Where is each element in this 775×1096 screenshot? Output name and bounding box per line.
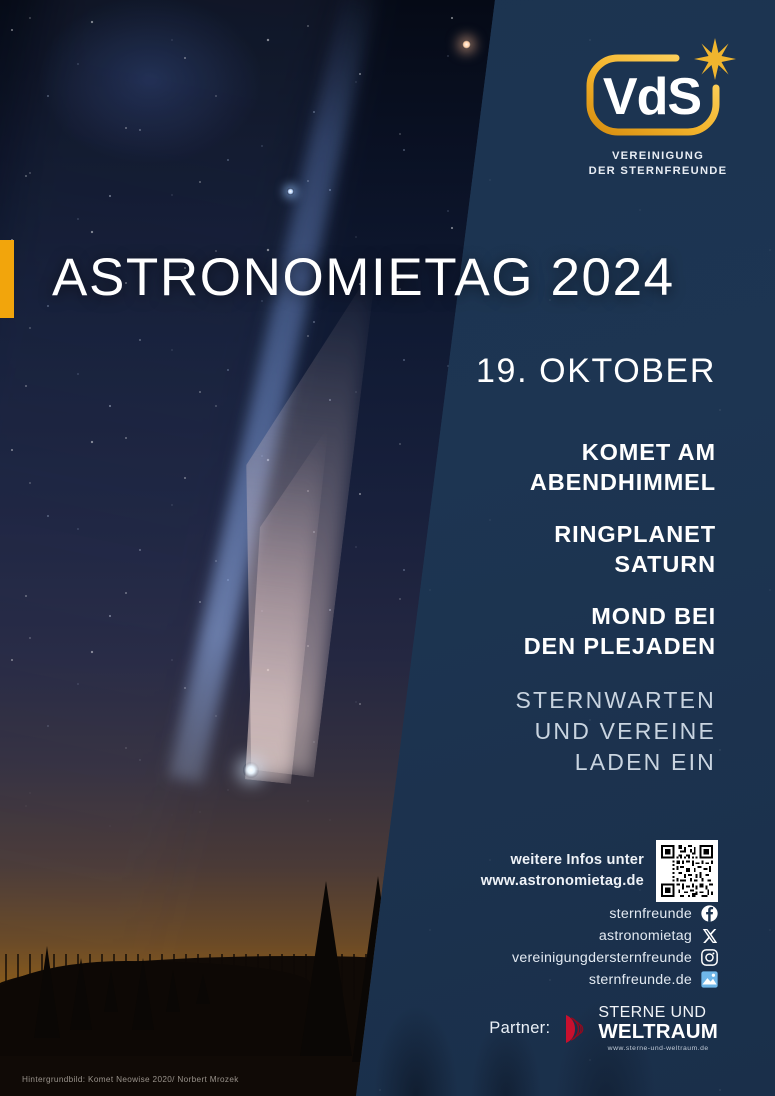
more-info-line1: weitere Infos unter [481,850,644,871]
vds-subtitle-line2: DER STERNFREUNDE [578,164,738,179]
highlight-item-saturn: RINGPLANET SATURN [386,519,716,579]
social-row-instagram[interactable]: vereinigungdersternfreunde [388,947,718,968]
event-date: 19. OKTOBER [476,352,716,391]
suw-name-line2: WELTRAUM [598,1022,718,1043]
vds-logo: VdS VEREINIGUNG DER STERNFREUNDE [578,52,738,179]
highlight-item-invitation: STERNWARTEN UND VEREINE LADEN EIN [386,685,716,778]
suw-radio-waves-icon [562,1011,592,1047]
comet-nucleus [243,762,259,778]
eight-point-star-icon [694,38,736,80]
conifer-tree [132,958,154,1030]
accent-bar [0,240,14,318]
highlight-list: KOMET AM ABENDHIMMEL RINGPLANET SATURN M… [386,437,716,778]
conifer-tree [166,970,180,1012]
conifer-tree [34,946,60,1038]
x-twitter-icon[interactable] [701,927,718,944]
sterne-und-weltraum-logo[interactable]: STERNE UND WELTRAUM www.sterne-und-weltr… [562,1005,718,1052]
social-handle: astronomietag [599,928,692,944]
facebook-icon[interactable] [701,905,718,922]
qr-code-icon[interactable] [656,840,718,902]
vds-logo-mark: VdS [584,52,732,140]
highlight-item-comet: KOMET AM ABENDHIMMEL [386,437,716,497]
highlight-line: KOMET AM [386,437,716,467]
bright-orange-star [462,40,471,49]
vds-subtitle-line1: VEREINIGUNG [578,149,738,164]
highlight-line: ABENDHIMMEL [386,467,716,497]
highlight-line: MOND BEI [386,601,716,631]
suw-url: www.sterne-und-weltraum.de [598,1046,718,1053]
bright-blue-star [287,188,294,195]
more-info-block: weitere Infos unter www.astronomietag.de [481,840,718,902]
partner-label: Partner: [489,1019,550,1038]
website-url: www.astronomietag.de [481,871,644,892]
svg-text:VdS: VdS [603,68,701,126]
highlight-line: UND VEREINE [386,716,716,747]
highlight-item-moon-pleiades: MOND BEI DEN PLEJADEN [386,601,716,661]
website-icon[interactable] [701,971,718,988]
social-handle: sternfreunde [609,906,692,922]
social-row-facebook[interactable]: sternfreunde [388,903,718,924]
social-row-x[interactable]: astronomietag [388,925,718,946]
partner-block: Partner: STERNE UND WELTRAUM www.sterne-… [489,1005,718,1052]
vds-subtitle: VEREINIGUNG DER STERNFREUNDE [578,149,738,179]
highlight-line: STERNWARTEN [386,685,716,716]
poster-canvas: Hintergrundbild: Komet Neowise 2020/ Nor… [0,0,775,1096]
highlight-line: RINGPLANET [386,519,716,549]
social-handle: vereinigungdersternfreunde [512,950,692,966]
suw-name-line1: STERNE UND [598,1005,718,1021]
conifer-tree [104,970,118,1012]
social-links: sternfreunde astronomietag vereinigungde… [388,903,718,991]
social-handle: sternfreunde.de [589,972,692,988]
highlight-line: LADEN EIN [386,747,716,778]
highlight-line: SATURN [386,549,716,579]
conifer-tree [196,974,210,1004]
conifer-tree [300,881,352,1056]
photo-credit: Hintergrundbild: Komet Neowise 2020/ Nor… [22,1075,239,1084]
page-title: ASTRONOMIETAG 2024 [52,247,675,308]
highlight-line: DEN PLEJADEN [386,631,716,661]
suw-wordmark: STERNE UND WELTRAUM www.sterne-und-weltr… [598,1005,718,1052]
more-info-text: weitere Infos unter www.astronomietag.de [481,850,644,892]
instagram-icon[interactable] [701,949,718,966]
social-row-website[interactable]: sternfreunde.de [388,969,718,990]
conifer-tree [70,958,92,1030]
